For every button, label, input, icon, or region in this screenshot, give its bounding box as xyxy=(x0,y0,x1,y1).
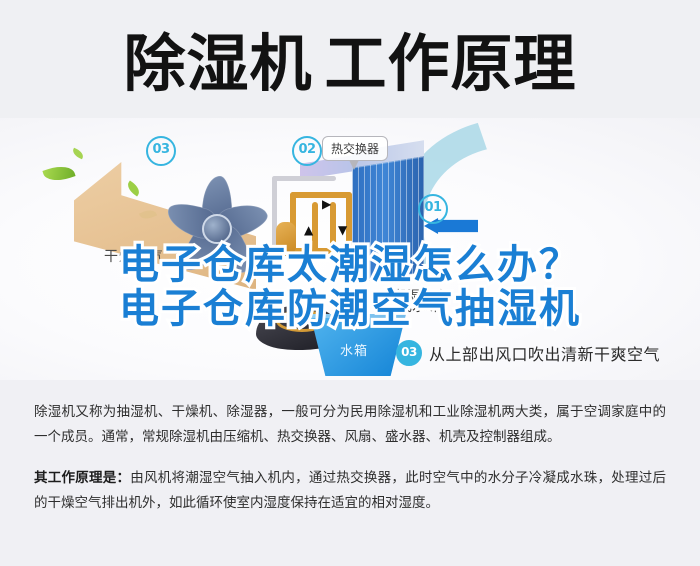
leaf-icon xyxy=(71,148,85,159)
title-part-1: 除湿机 xyxy=(123,27,312,100)
caption-03-row: 03 从上部出风口吹出清新干爽空气 xyxy=(396,340,660,366)
paragraph-2-lead: 其工作原理是： xyxy=(34,470,130,486)
receiver-tank-icon xyxy=(276,222,296,256)
heat-exchanger-callout: 热交换器 xyxy=(322,136,388,161)
dry-air-label: 干燥空气 xyxy=(104,246,164,266)
badge-02: 02 xyxy=(292,136,322,166)
caption-03-text: 从上部出风口吹出清新干爽空气 xyxy=(429,341,660,365)
title-part-2: 工作原理 xyxy=(325,27,577,100)
badge-01: 01 xyxy=(418,194,448,224)
paragraph-1: 除湿机又称为抽湿机、干燥机、除湿器，一般可分为民用除湿机和工业除湿机两大类，属于… xyxy=(34,400,666,450)
body-copy: 除湿机又称为抽湿机、干燥机、除湿器，一般可分为民用除湿机和工业除湿机两大类，属于… xyxy=(0,400,700,532)
badge-03-inline: 03 xyxy=(396,340,422,366)
page-root: 除湿机工作原理 干燥空气 ▶ xyxy=(0,0,700,566)
flow-arrow-icon: ▼ xyxy=(338,224,347,236)
flow-arrow-icon: ▶ xyxy=(322,198,331,210)
water-tank-label: 水箱 xyxy=(340,340,368,359)
badge-03: 03 xyxy=(146,136,176,166)
flow-arrow-icon: ▲ xyxy=(304,224,313,236)
evaporator-fins-icon xyxy=(352,156,424,283)
leaf-icon xyxy=(125,181,142,197)
caption-02: 成水珠 xyxy=(398,296,440,316)
compressor-piping: ▶ ▲ ▼ xyxy=(268,168,364,276)
pipe-segment xyxy=(290,192,352,198)
pipe-segment xyxy=(272,176,277,268)
title-band: 除湿机工作原理 xyxy=(0,0,700,120)
pipe-segment xyxy=(272,176,336,181)
dehumidifier-diagram: 干燥空气 ▶ ▲ ▼ xyxy=(0,118,700,380)
paragraph-2: 其工作原理是：由风机将潮湿空气抽入机内，通过热交换器，此时空气中的水分子冷凝成水… xyxy=(34,466,666,516)
page-title: 除湿机工作原理 xyxy=(0,28,700,100)
leaf-icon xyxy=(42,162,75,186)
fan-hub xyxy=(202,214,232,244)
fan-icon xyxy=(160,170,270,280)
pipe-segment xyxy=(290,248,352,254)
